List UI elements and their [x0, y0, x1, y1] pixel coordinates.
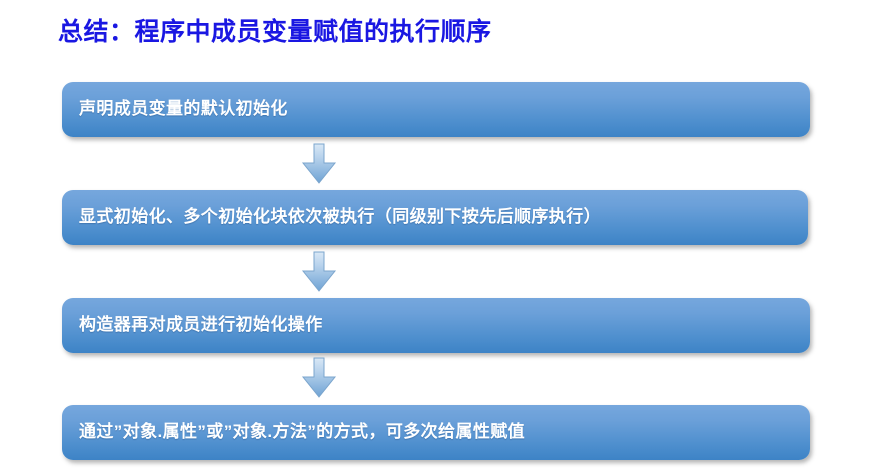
arrow-down-icon	[301, 251, 337, 293]
flow-step-label-3: 构造器再对成员进行初始化操作	[79, 316, 323, 335]
flow-step-box-2[interactable]: 显式初始化、多个初始化块依次被执行（同级别下按先后顺序执行）	[62, 190, 808, 245]
arrow-down-icon	[301, 143, 337, 185]
flow-step-box-3[interactable]: 构造器再对成员进行初始化操作	[62, 298, 810, 353]
page-title: 总结：程序中成员变量赋值的执行顺序	[58, 12, 492, 48]
flow-step-box-4[interactable]: 通过”对象.属性”或”对象.方法”的方式，可多次给属性赋值	[62, 405, 810, 460]
flow-step-label-2: 显式初始化、多个初始化块依次被执行（同级别下按先后顺序执行）	[79, 208, 601, 227]
flow-step-label-4: 通过”对象.属性”或”对象.方法”的方式，可多次给属性赋值	[79, 423, 525, 442]
arrow-down-icon	[301, 357, 337, 399]
slide-canvas: 总结：程序中成员变量赋值的执行顺序 声明成员变量的默认初始化 显式初始化、多个初…	[0, 0, 872, 474]
flow-step-label-1: 声明成员变量的默认初始化	[79, 100, 288, 119]
flow-step-box-1[interactable]: 声明成员变量的默认初始化	[62, 82, 810, 137]
